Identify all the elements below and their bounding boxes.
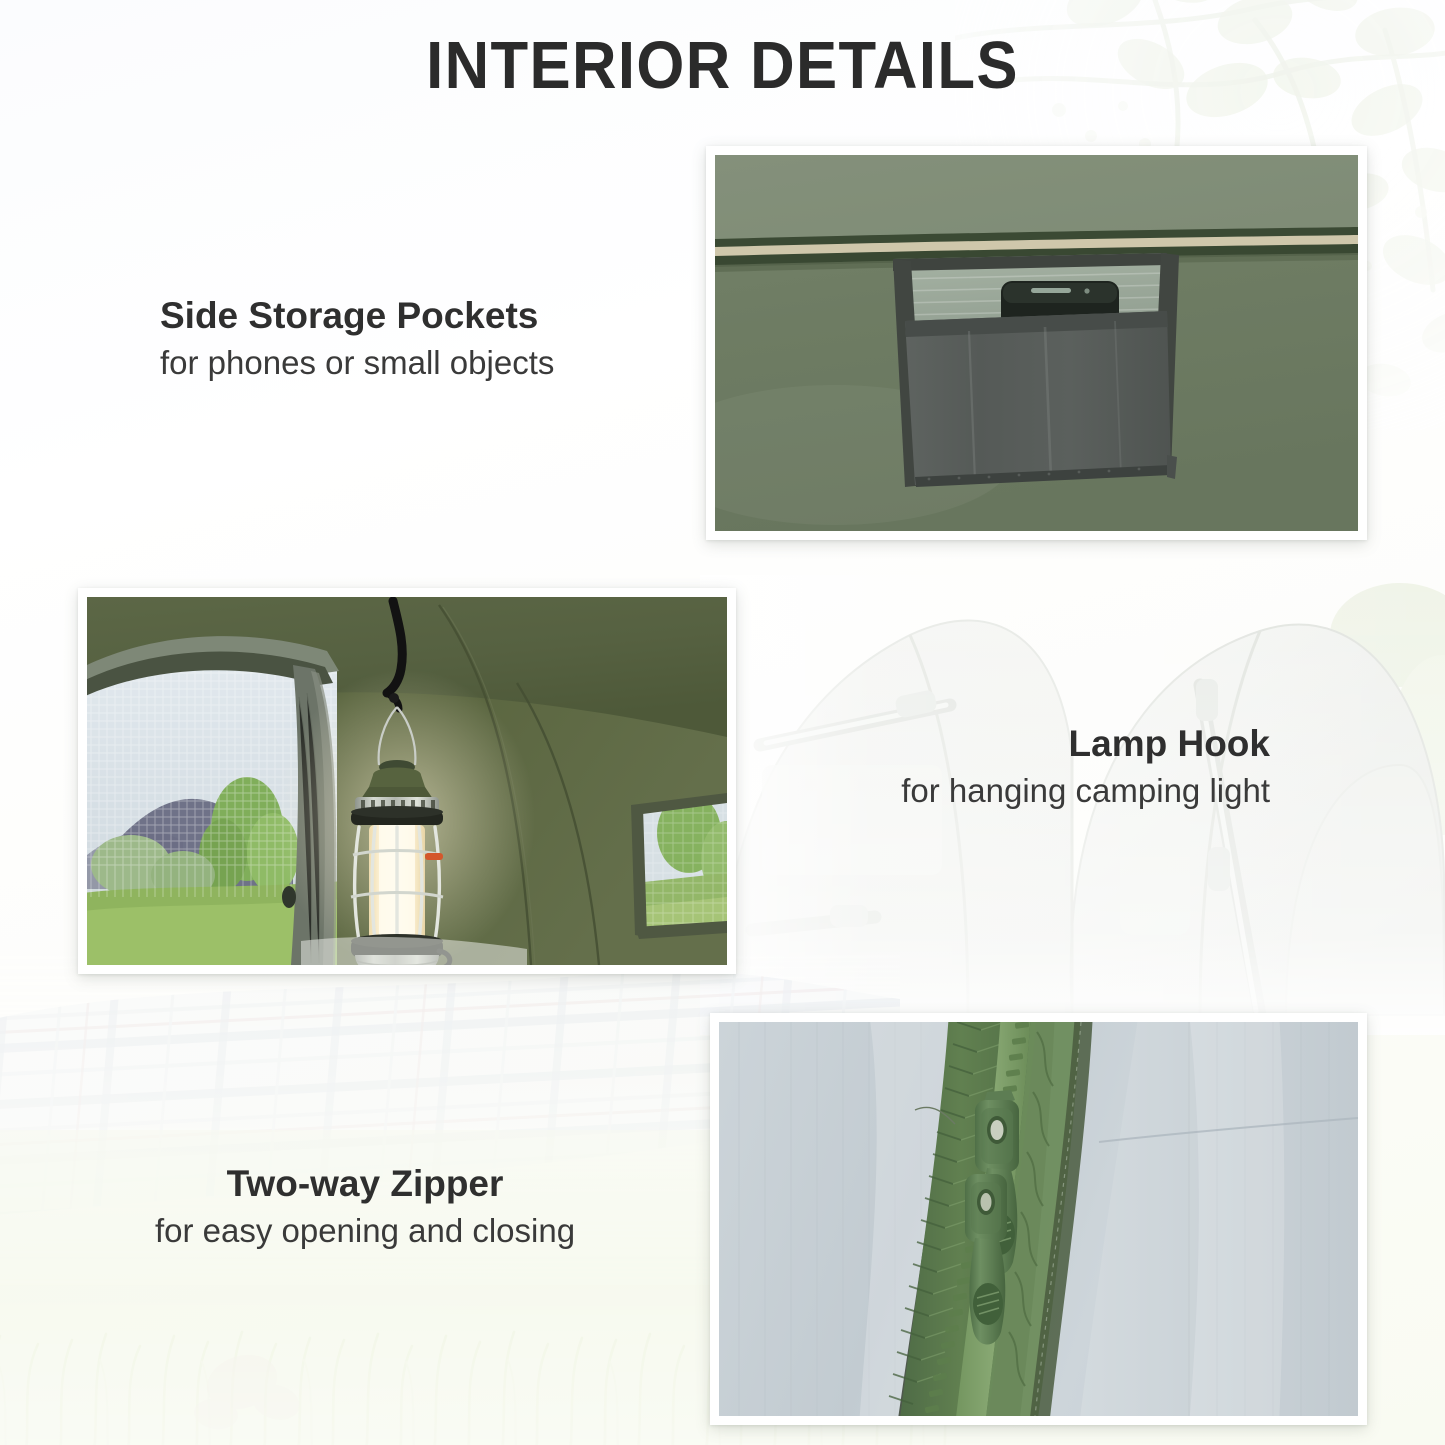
photo-panel-side-storage-pockets — [706, 146, 1367, 540]
photo-lamp-hook — [87, 597, 727, 965]
feature-subtext-two-way-zipper: for easy opening and closing — [140, 1211, 590, 1251]
feature-subtext-side-storage-pockets: for phones or small objects — [160, 343, 554, 383]
feature-subtext-lamp-hook: for hanging camping light — [760, 771, 1270, 811]
feature-heading-two-way-zipper: Two-way Zipper — [140, 1163, 590, 1204]
feature-label-side-storage-pockets: Side Storage Pockets for phones or small… — [160, 295, 554, 383]
feature-label-lamp-hook: Lamp Hook for hanging camping light — [760, 723, 1270, 811]
infographic-canvas: INTERIOR DETAILS — [0, 0, 1445, 1445]
photo-two-way-zipper — [719, 1022, 1358, 1416]
feature-heading-lamp-hook: Lamp Hook — [760, 723, 1270, 764]
photo-panel-lamp-hook — [78, 588, 736, 974]
page-title: INTERIOR DETAILS — [58, 27, 1387, 104]
feature-heading-side-storage-pockets: Side Storage Pockets — [160, 295, 554, 336]
photo-side-storage-pockets — [715, 155, 1358, 531]
feature-label-two-way-zipper: Two-way Zipper for easy opening and clos… — [140, 1163, 590, 1251]
photo-panel-two-way-zipper — [710, 1013, 1367, 1425]
